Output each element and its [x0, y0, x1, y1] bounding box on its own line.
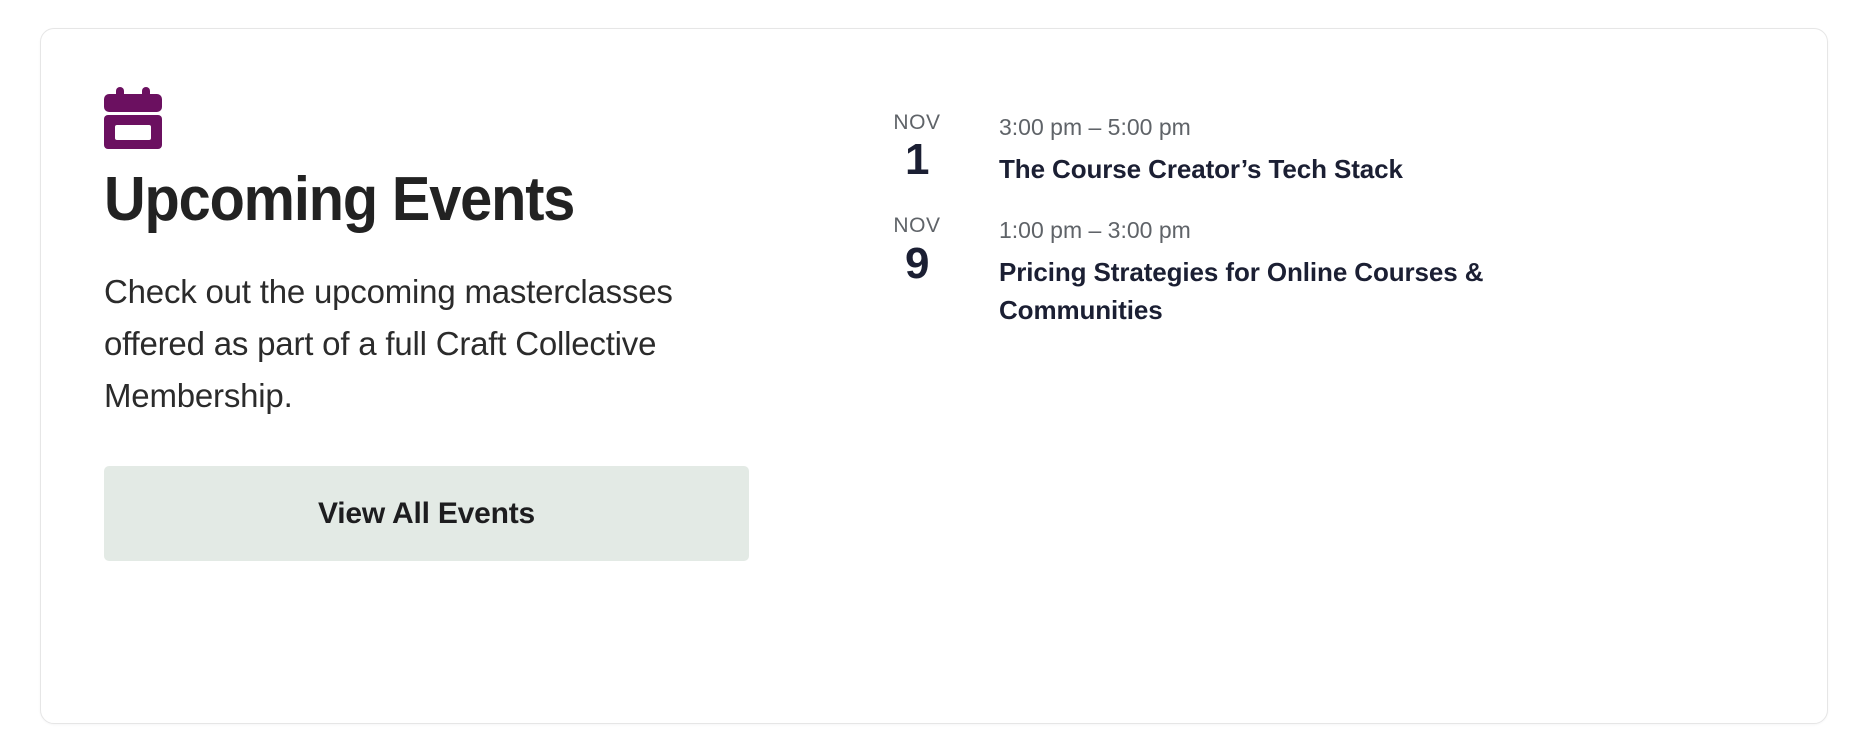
event-day: 1	[871, 135, 963, 184]
upcoming-events-card: Upcoming Events Check out the upcoming m…	[40, 28, 1828, 724]
event-month: NOV	[871, 111, 963, 135]
event-title[interactable]: The Course Creator’s Tech Stack	[999, 151, 1403, 189]
event-item[interactable]: NOV 1 3:00 pm – 5:00 pm The Course Creat…	[871, 109, 1767, 188]
event-month: NOV	[871, 214, 963, 238]
event-details: 1:00 pm – 3:00 pm Pricing Strategies for…	[963, 212, 1559, 329]
event-time: 1:00 pm – 3:00 pm	[999, 216, 1559, 245]
event-time: 3:00 pm – 5:00 pm	[999, 113, 1403, 142]
event-date: NOV 9	[871, 212, 963, 287]
events-list: NOV 1 3:00 pm – 5:00 pm The Course Creat…	[871, 87, 1827, 354]
page-title: Upcoming Events	[104, 167, 817, 232]
view-all-events-button[interactable]: View All Events	[104, 466, 749, 561]
event-day: 9	[871, 239, 963, 288]
event-details: 3:00 pm – 5:00 pm The Course Creator’s T…	[963, 109, 1403, 188]
card-left-column: Upcoming Events Check out the upcoming m…	[41, 87, 871, 561]
card-description: Check out the upcoming masterclasses off…	[104, 266, 704, 422]
event-title[interactable]: Pricing Strategies for Online Courses & …	[999, 254, 1559, 329]
event-date: NOV 1	[871, 109, 963, 184]
page-root: Upcoming Events Check out the upcoming m…	[0, 0, 1868, 756]
calendar-icon	[104, 87, 162, 149]
event-item[interactable]: NOV 9 1:00 pm – 3:00 pm Pricing Strategi…	[871, 212, 1767, 329]
